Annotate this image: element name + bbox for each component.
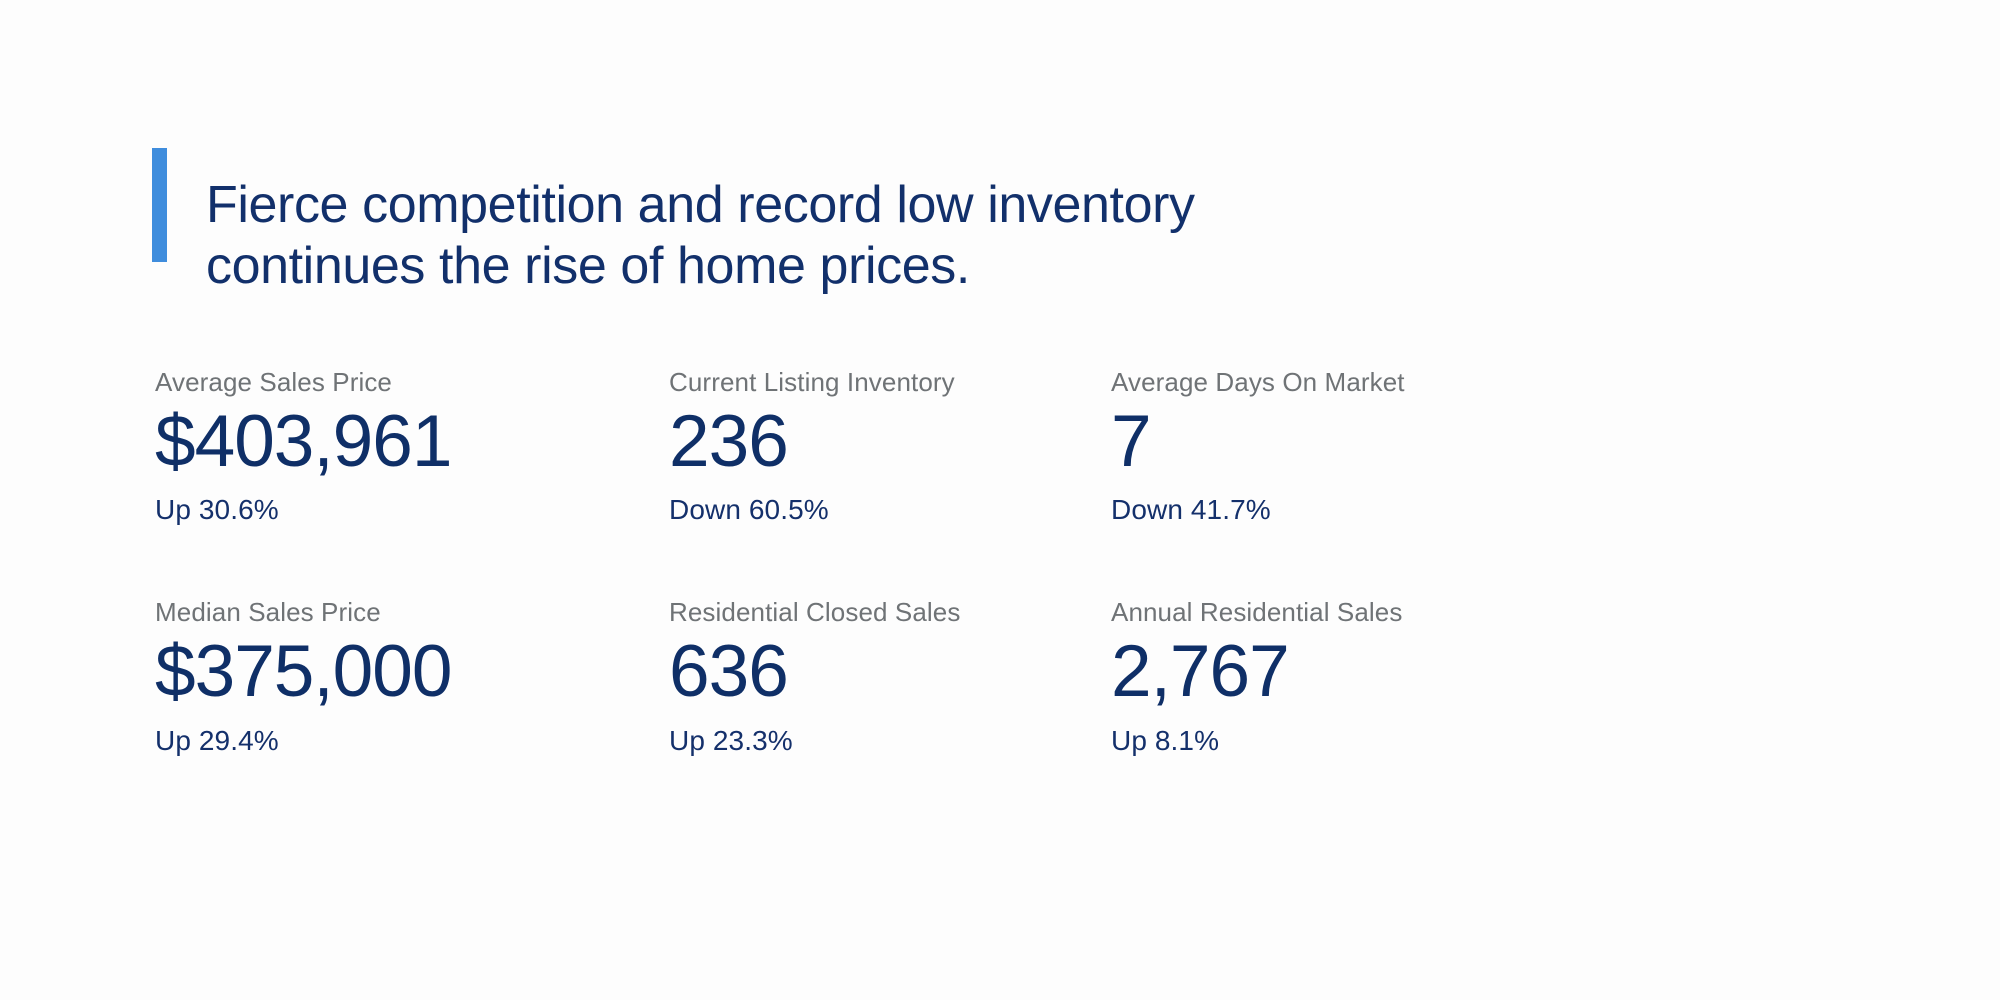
stat-card-current-listing-inventory: Current Listing Inventory 236 Down 60.5% [669, 368, 1111, 526]
market-stats-slide: Fierce competition and record low invent… [0, 0, 2000, 1000]
stat-label: Annual Residential Sales [1111, 598, 1571, 627]
headline-block: Fierce competition and record low invent… [152, 140, 1195, 332]
stat-label: Median Sales Price [155, 598, 669, 627]
stat-label: Average Days On Market [1111, 368, 1571, 397]
stat-change: Up 23.3% [669, 726, 1111, 757]
stat-card-average-days-on-market: Average Days On Market 7 Down 41.7% [1111, 368, 1571, 526]
stat-label: Current Listing Inventory [669, 368, 1111, 397]
stat-value: 636 [669, 633, 1111, 712]
stat-card-residential-closed-sales: Residential Closed Sales 636 Up 23.3% [669, 598, 1111, 756]
stat-value: $403,961 [155, 403, 669, 482]
stat-value: 236 [669, 403, 1111, 482]
stat-label: Residential Closed Sales [669, 598, 1111, 627]
stat-value: 2,767 [1111, 633, 1571, 712]
stat-change: Up 29.4% [155, 726, 669, 757]
stat-change: Up 30.6% [155, 495, 669, 526]
stat-value: 7 [1111, 403, 1571, 482]
page-title: Fierce competition and record low invent… [206, 175, 1195, 298]
stat-change: Down 41.7% [1111, 495, 1571, 526]
stat-label: Average Sales Price [155, 368, 669, 397]
stat-card-average-sales-price: Average Sales Price $403,961 Up 30.6% [155, 368, 669, 526]
stat-change: Down 60.5% [669, 495, 1111, 526]
stat-card-median-sales-price: Median Sales Price $375,000 Up 29.4% [155, 598, 669, 756]
stat-change: Up 8.1% [1111, 726, 1571, 757]
stat-value: $375,000 [155, 633, 669, 712]
stats-grid: Average Sales Price $403,961 Up 30.6% Cu… [155, 368, 1715, 756]
stat-card-annual-residential-sales: Annual Residential Sales 2,767 Up 8.1% [1111, 598, 1571, 756]
accent-bar [152, 148, 167, 262]
